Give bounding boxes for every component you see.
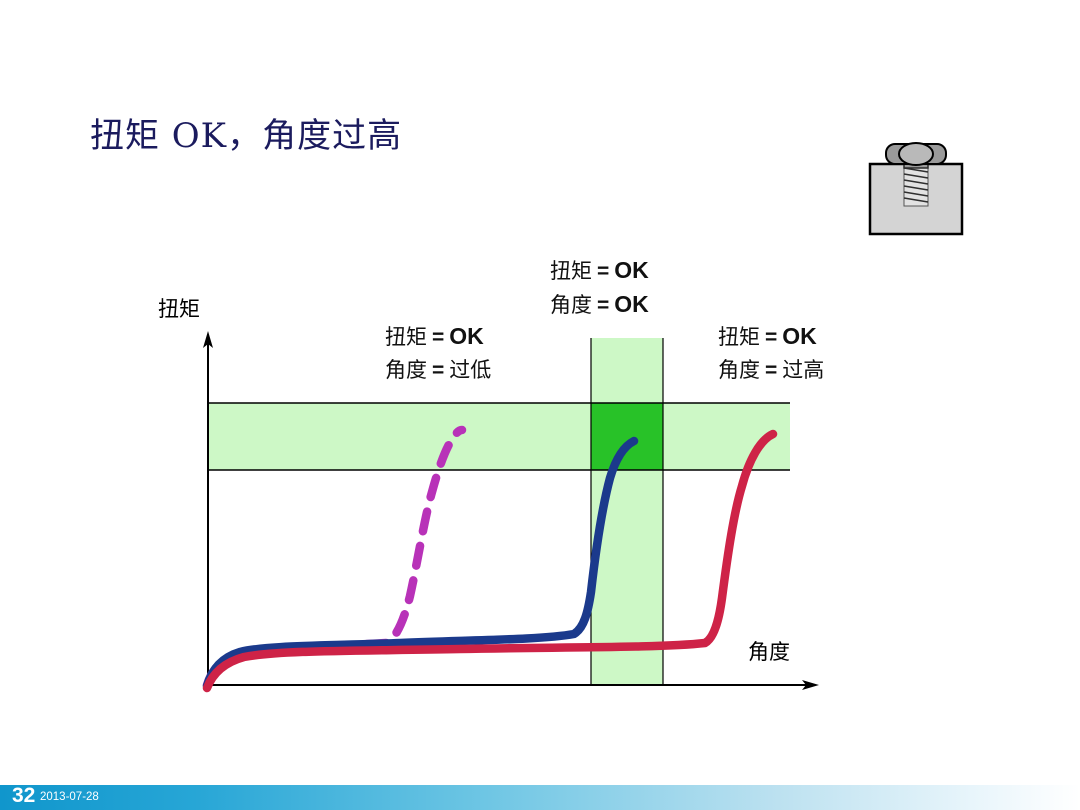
torque-ok-band	[208, 403, 790, 470]
curve-angle-too-high	[207, 434, 773, 688]
annotation-zone-too-low: 扭矩=OK 角度=过低	[385, 320, 491, 387]
annotation-equals: =	[592, 260, 614, 283]
annotation-value: OK	[449, 323, 484, 349]
annotation-equals: =	[427, 326, 449, 349]
annotation-key: 角度	[385, 358, 427, 382]
annotation-equals: =	[760, 359, 782, 382]
annotation-value: OK	[614, 257, 649, 283]
annotation-value: 过低	[449, 358, 491, 382]
annotation-equals: =	[760, 326, 782, 349]
annotation-zone-ok: 扭矩=OK 角度=OK	[550, 254, 649, 322]
annotation-key: 角度	[550, 293, 592, 317]
annotation-equals: =	[427, 359, 449, 382]
annotation-key: 扭矩	[385, 325, 427, 349]
torque-angle-chart	[0, 0, 1080, 810]
annotation-value: OK	[782, 323, 817, 349]
both-ok-intersection	[591, 403, 663, 470]
annotation-zone-too-high: 扭矩=OK 角度=过高	[718, 320, 824, 387]
y-axis-label: 扭矩	[158, 293, 200, 323]
annotation-key: 扭矩	[718, 325, 760, 349]
annotation-value: OK	[614, 291, 649, 317]
x-axis-label: 角度	[748, 636, 790, 666]
annotation-equals: =	[592, 294, 614, 317]
annotation-key: 扭矩	[550, 259, 592, 283]
annotation-key: 角度	[718, 358, 760, 382]
annotation-value: 过高	[782, 358, 824, 382]
